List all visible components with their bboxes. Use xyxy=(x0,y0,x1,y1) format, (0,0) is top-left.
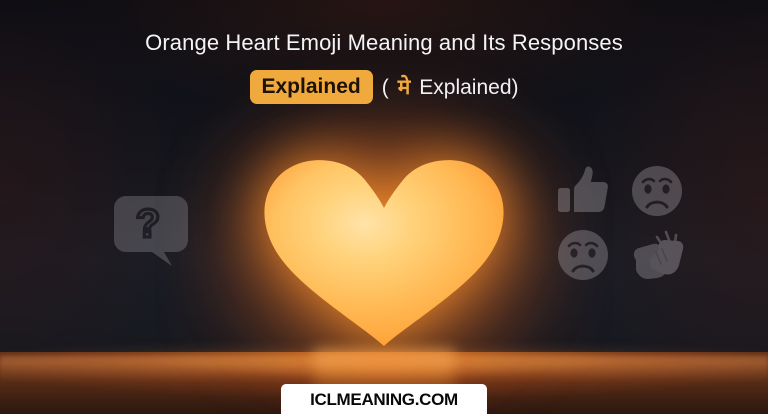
reaction-icon-cluster xyxy=(552,162,688,284)
worried-face-icon xyxy=(626,162,688,220)
question-mark-glyph: ? xyxy=(136,202,160,246)
question-speech-bubble-icon: ? xyxy=(112,192,190,270)
feature-graphic-canvas: ? Orange H xyxy=(0,0,768,414)
site-watermark-label: ICLMEANING.COM xyxy=(310,391,458,408)
subtitle-row: Explained ( मे Explained) xyxy=(0,70,768,104)
sad-face-icon xyxy=(552,226,614,284)
page-title: Orange Heart Emoji Meaning and Its Respo… xyxy=(0,28,768,58)
paren-open: ( xyxy=(382,77,389,98)
paren-tail: Explained) xyxy=(419,77,518,98)
clapping-hands-icon xyxy=(626,226,688,284)
hindi-word: मे xyxy=(398,77,411,98)
thumbs-up-icon xyxy=(552,162,614,220)
explained-badge: Explained xyxy=(250,70,373,104)
hero-heart xyxy=(254,150,514,350)
heart-icon xyxy=(254,150,514,350)
site-watermark-banner: ICLMEANING.COM xyxy=(281,384,487,414)
